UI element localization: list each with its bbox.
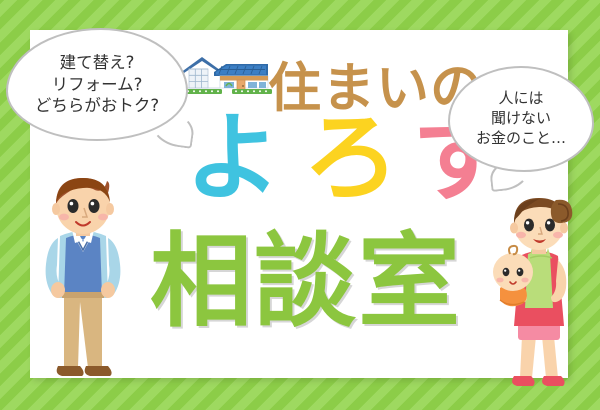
kana-ro: ろ	[303, 110, 399, 206]
man-standing-illustration	[28, 176, 140, 390]
kana-yo: よ	[185, 110, 281, 206]
bubble-left-line-1: 建て替え?	[60, 52, 135, 74]
bubble-right-line-1: 人には	[498, 89, 543, 109]
speech-bubble-right: 人には 聞けない お金のこと…	[448, 66, 594, 172]
bubble-right-line-3: お金のこと…	[476, 129, 566, 149]
banner-canvas: 住まいの よろず 相談室 建て替え? リフォーム? どちらがおトク? 人には 聞…	[0, 0, 600, 410]
woman-holding-baby-illustration	[486, 196, 580, 396]
bubble-left-line-2: リフォーム?	[52, 74, 143, 96]
title-main: 相談室	[150, 232, 462, 334]
bubble-right-line-2: 聞けない	[491, 109, 551, 129]
bubble-left-line-3: どちらがおトク?	[35, 95, 159, 117]
house-with-solar-panels-icon	[176, 42, 280, 104]
